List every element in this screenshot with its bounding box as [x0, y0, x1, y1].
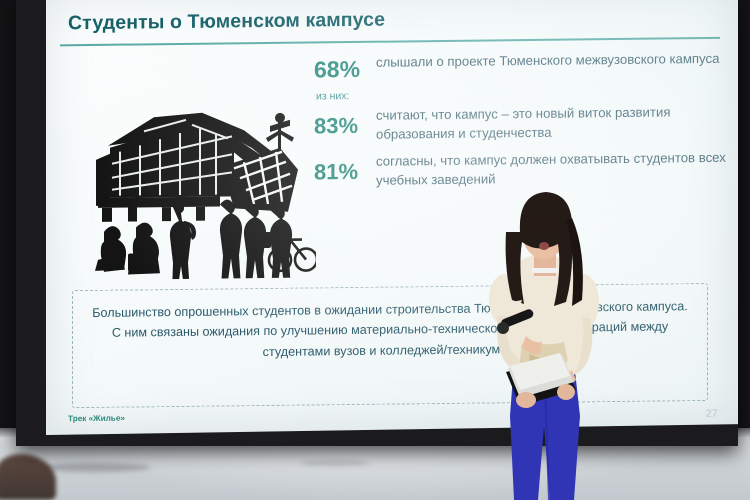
stat-percent: 81%: [314, 150, 376, 186]
stat-percent: 83%: [314, 103, 376, 139]
conference-room-scene: Студенты о Тюменском кампусе СТУДСОВЕТ Т…: [0, 0, 750, 500]
projection-screen-bezel: Студенты о Тюменском кампусе СТУДСОВЕТ Т…: [16, 0, 738, 446]
stat-text: слышали о проекте Тюменского межвузовско…: [376, 47, 729, 72]
page-title: Студенты о Тюменском кампусе: [68, 9, 385, 36]
floor-smudge: [300, 460, 370, 466]
campus-building-illustration: [84, 99, 316, 280]
statistics-block: 68% слышали о проекте Тюменского межвузо…: [314, 47, 729, 197]
slide-page-number: 27: [706, 408, 718, 420]
track-label: Трек «Жилье»: [68, 414, 125, 424]
title-divider: [60, 37, 720, 46]
speaker-presenter: [470, 176, 620, 500]
presentation-slide: Студенты о Тюменском кампусе СТУДСОВЕТ Т…: [46, 0, 738, 435]
stat-row: 83% считают, что кампус – это новый вито…: [314, 99, 729, 144]
floor-smudge: [40, 463, 150, 472]
stat-text: считают, что кампус – это новый виток ра…: [376, 99, 729, 143]
stat-row: 68% слышали о проекте Тюменского межвузо…: [314, 47, 729, 84]
stat-percent: 68%: [314, 51, 376, 84]
